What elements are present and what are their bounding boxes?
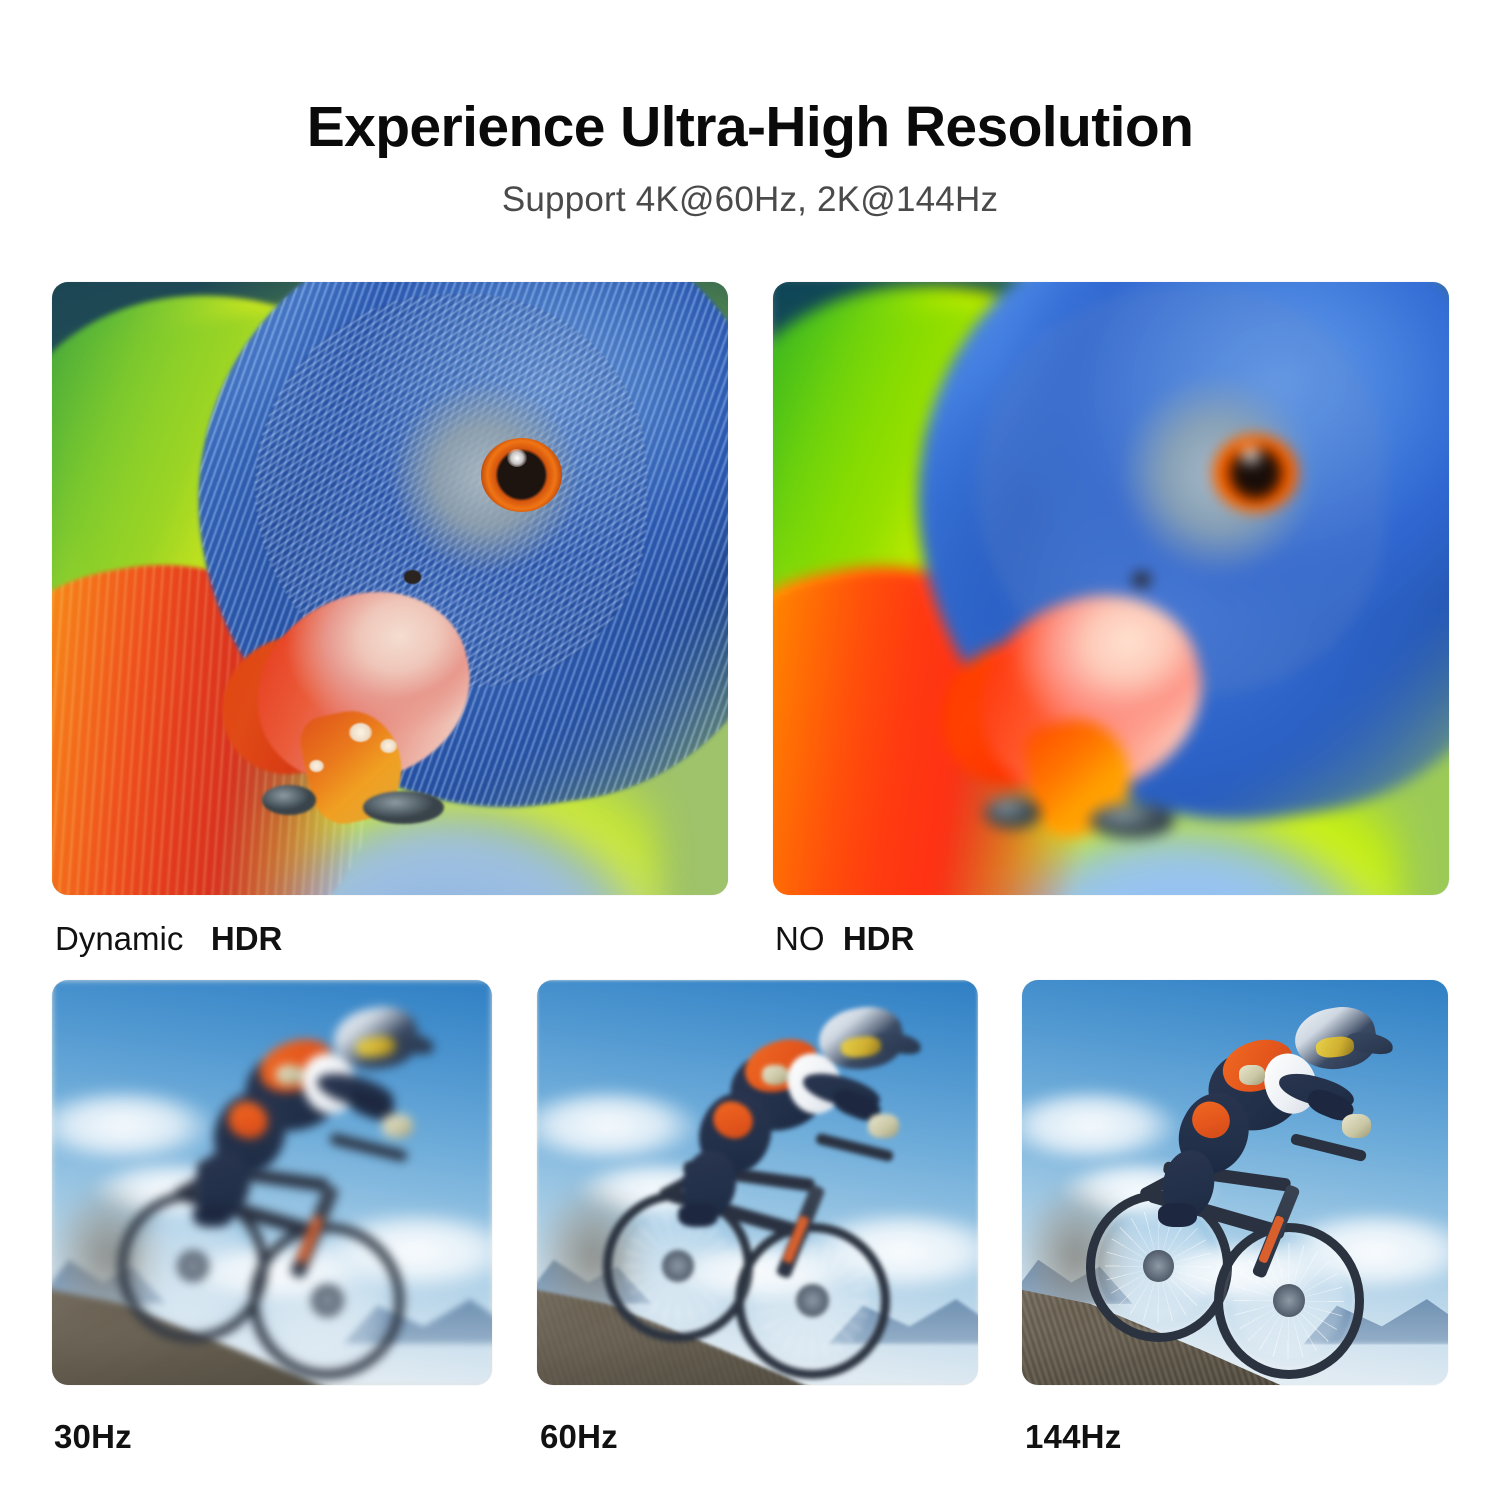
parrot-nostril: [404, 570, 422, 583]
rider-glove: [276, 1065, 302, 1085]
parrot-beak-crumb: [349, 723, 372, 741]
mountain-biker-photo-144hz: [1022, 980, 1448, 1385]
rider-glove: [762, 1065, 788, 1085]
caption-no-hdr: NO HDR: [775, 920, 914, 958]
rider-glove: [382, 1114, 413, 1138]
refresh-image-144hz: [1022, 980, 1448, 1385]
page-title: Experience Ultra-High Resolution: [0, 0, 1500, 158]
rider: [1022, 980, 1448, 1385]
rider-shoe: [1158, 1203, 1196, 1227]
refresh-image-60hz: [537, 980, 978, 1385]
caption-60hz: 60Hz: [540, 1418, 618, 1456]
caption-dynamic-hdr: Dynamic HDR: [55, 920, 282, 958]
hdr-image-dynamic: [52, 282, 728, 895]
header: Experience Ultra-High Resolution Support…: [0, 0, 1500, 220]
parrot-photo-blurred: [773, 282, 1449, 895]
page-subtitle: Support 4K@60Hz, 2K@144Hz: [0, 158, 1500, 220]
rider-glove: [1342, 1114, 1372, 1138]
parrot-perch-seed: [1090, 803, 1175, 838]
rider: [537, 980, 978, 1385]
refresh-image-30hz: [52, 980, 492, 1385]
rider-glove: [1239, 1065, 1265, 1085]
caption-dynamic-hdr-prefix: Dynamic: [55, 920, 183, 957]
parrot-perch-seed: [984, 797, 1041, 829]
parrot-nostril: [1132, 572, 1150, 586]
mountain-biker-photo-30hz: [52, 980, 492, 1385]
hdr-image-none: [773, 282, 1449, 895]
parrot-perch-seed: [363, 791, 444, 824]
caption-no-hdr-emphasis: HDR: [843, 920, 915, 957]
caption-144hz: 144Hz: [1025, 1418, 1121, 1456]
mountain-biker-photo-60hz: [537, 980, 978, 1385]
rider-shoe: [193, 1203, 233, 1227]
rider-glove: [868, 1114, 899, 1138]
rider: [52, 980, 492, 1385]
parrot-perch-seed: [262, 785, 316, 816]
caption-dynamic-hdr-emphasis: HDR: [211, 920, 283, 957]
caption-no-hdr-prefix: NO: [775, 920, 825, 957]
rider-shoe: [678, 1203, 718, 1227]
parrot-photo-sharp: [52, 282, 728, 895]
caption-30hz: 30Hz: [54, 1418, 132, 1456]
